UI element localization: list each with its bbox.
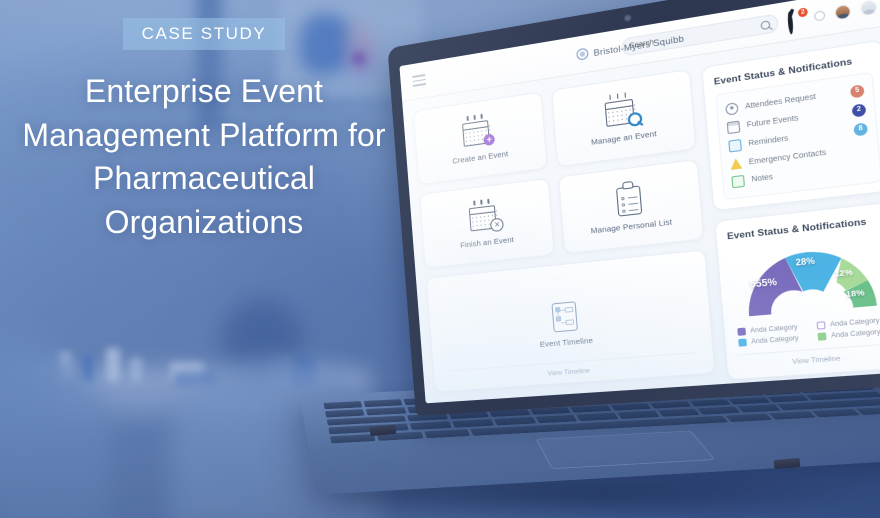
legend-item[interactable]: Anda Category [817,327,880,341]
notifications-button[interactable]: 2 [787,11,805,29]
view-timeline-link[interactable]: View Timeline [448,352,698,385]
note-icon [731,175,745,188]
legend-swatch [737,328,746,336]
calendar-plus-icon: + [460,115,496,150]
bms-logo-icon [576,47,589,60]
case-study-badge: CASE STUDY [123,18,286,50]
status-circle-icon[interactable] [814,10,826,22]
laptop-trackpad [535,431,715,469]
legend-label: Anda Category [830,317,880,328]
donut-chart: 555% 28% 12% 18% [728,233,880,322]
semi-donut: 555% 28% 12% 18% [737,237,880,319]
status-column: Event Status & Notifications Attendees R… [701,39,880,372]
status-badge: 5 [850,84,865,98]
laptop-hinge-right [774,458,801,469]
hero-text-block: CASE STUDY Enterprise Event Management P… [0,18,408,244]
tile-label: Event Timeline [539,335,593,349]
tile-finish-an-event[interactable]: × Finish an Event [419,178,554,269]
avatar-secondary[interactable] [860,0,877,17]
action-tiles-grid: + Create an Event Manage an Event [413,69,705,269]
tile-label: Finish an Event [460,234,514,249]
page-title: Enterprise Event Management Platform for… [0,70,408,244]
notification-count-badge: 2 [798,7,808,17]
legend-item[interactable]: Anda Category [738,334,811,347]
notifications-list: Attendees Request 5 Future Events 2 Remi [715,72,880,201]
hamburger-icon[interactable] [412,74,426,87]
legend-swatch [738,338,747,346]
quick-actions-column: + Create an Event Manage an Event [413,69,716,393]
status-badge: 8 [853,122,868,136]
reminder-icon [728,139,742,153]
legend-label: Anda Category [831,329,880,340]
tile-label: Manage Personal List [590,217,672,236]
bell-icon[interactable] [787,10,794,34]
legend-swatch [816,321,825,329]
chart-legend: Anda Category Anda Category Anda Categor… [735,316,880,347]
slice-label-4: 18% [846,287,865,299]
tile-create-an-event[interactable]: + Create an Event [413,91,548,185]
chart-panel: Event Status & Notifications [714,201,880,380]
laptop-lid: Bristol-Myers Squibb 2 [387,0,880,416]
calendar-icon [727,121,741,135]
clipboard-checklist-icon [609,182,649,218]
tile-manage-an-event[interactable]: Manage an Event [550,69,696,168]
user-circle-icon [725,102,739,116]
avatar[interactable] [834,4,851,21]
warning-triangle-icon [730,158,742,170]
slice-label-2: 28% [795,256,815,268]
search-icon[interactable] [760,20,770,30]
legend-swatch [817,332,826,340]
tile-label: Create an Event [452,148,509,165]
chart-view-timeline-link[interactable]: View Timeline [737,343,880,370]
calendar-search-icon [602,93,642,130]
tile-label: Manage an Event [591,128,657,146]
legend-label: Anda Category [750,324,798,334]
timeline-icon [545,299,583,333]
notifications-panel: Event Status & Notifications Attendees R… [701,39,880,211]
laptop-screen: Bristol-Myers Squibb 2 [399,0,880,403]
calendar-close-icon: × [467,200,504,234]
legend-item[interactable]: Anda Category [816,316,880,330]
status-badge: 2 [852,103,867,117]
tile-manage-personal-list[interactable]: Manage Personal List [557,159,704,254]
slice-label-3: 12% [834,267,853,279]
legend-label: Anda Category [751,335,799,345]
tile-event-timeline[interactable]: Event Timeline View Timeline [426,249,716,392]
